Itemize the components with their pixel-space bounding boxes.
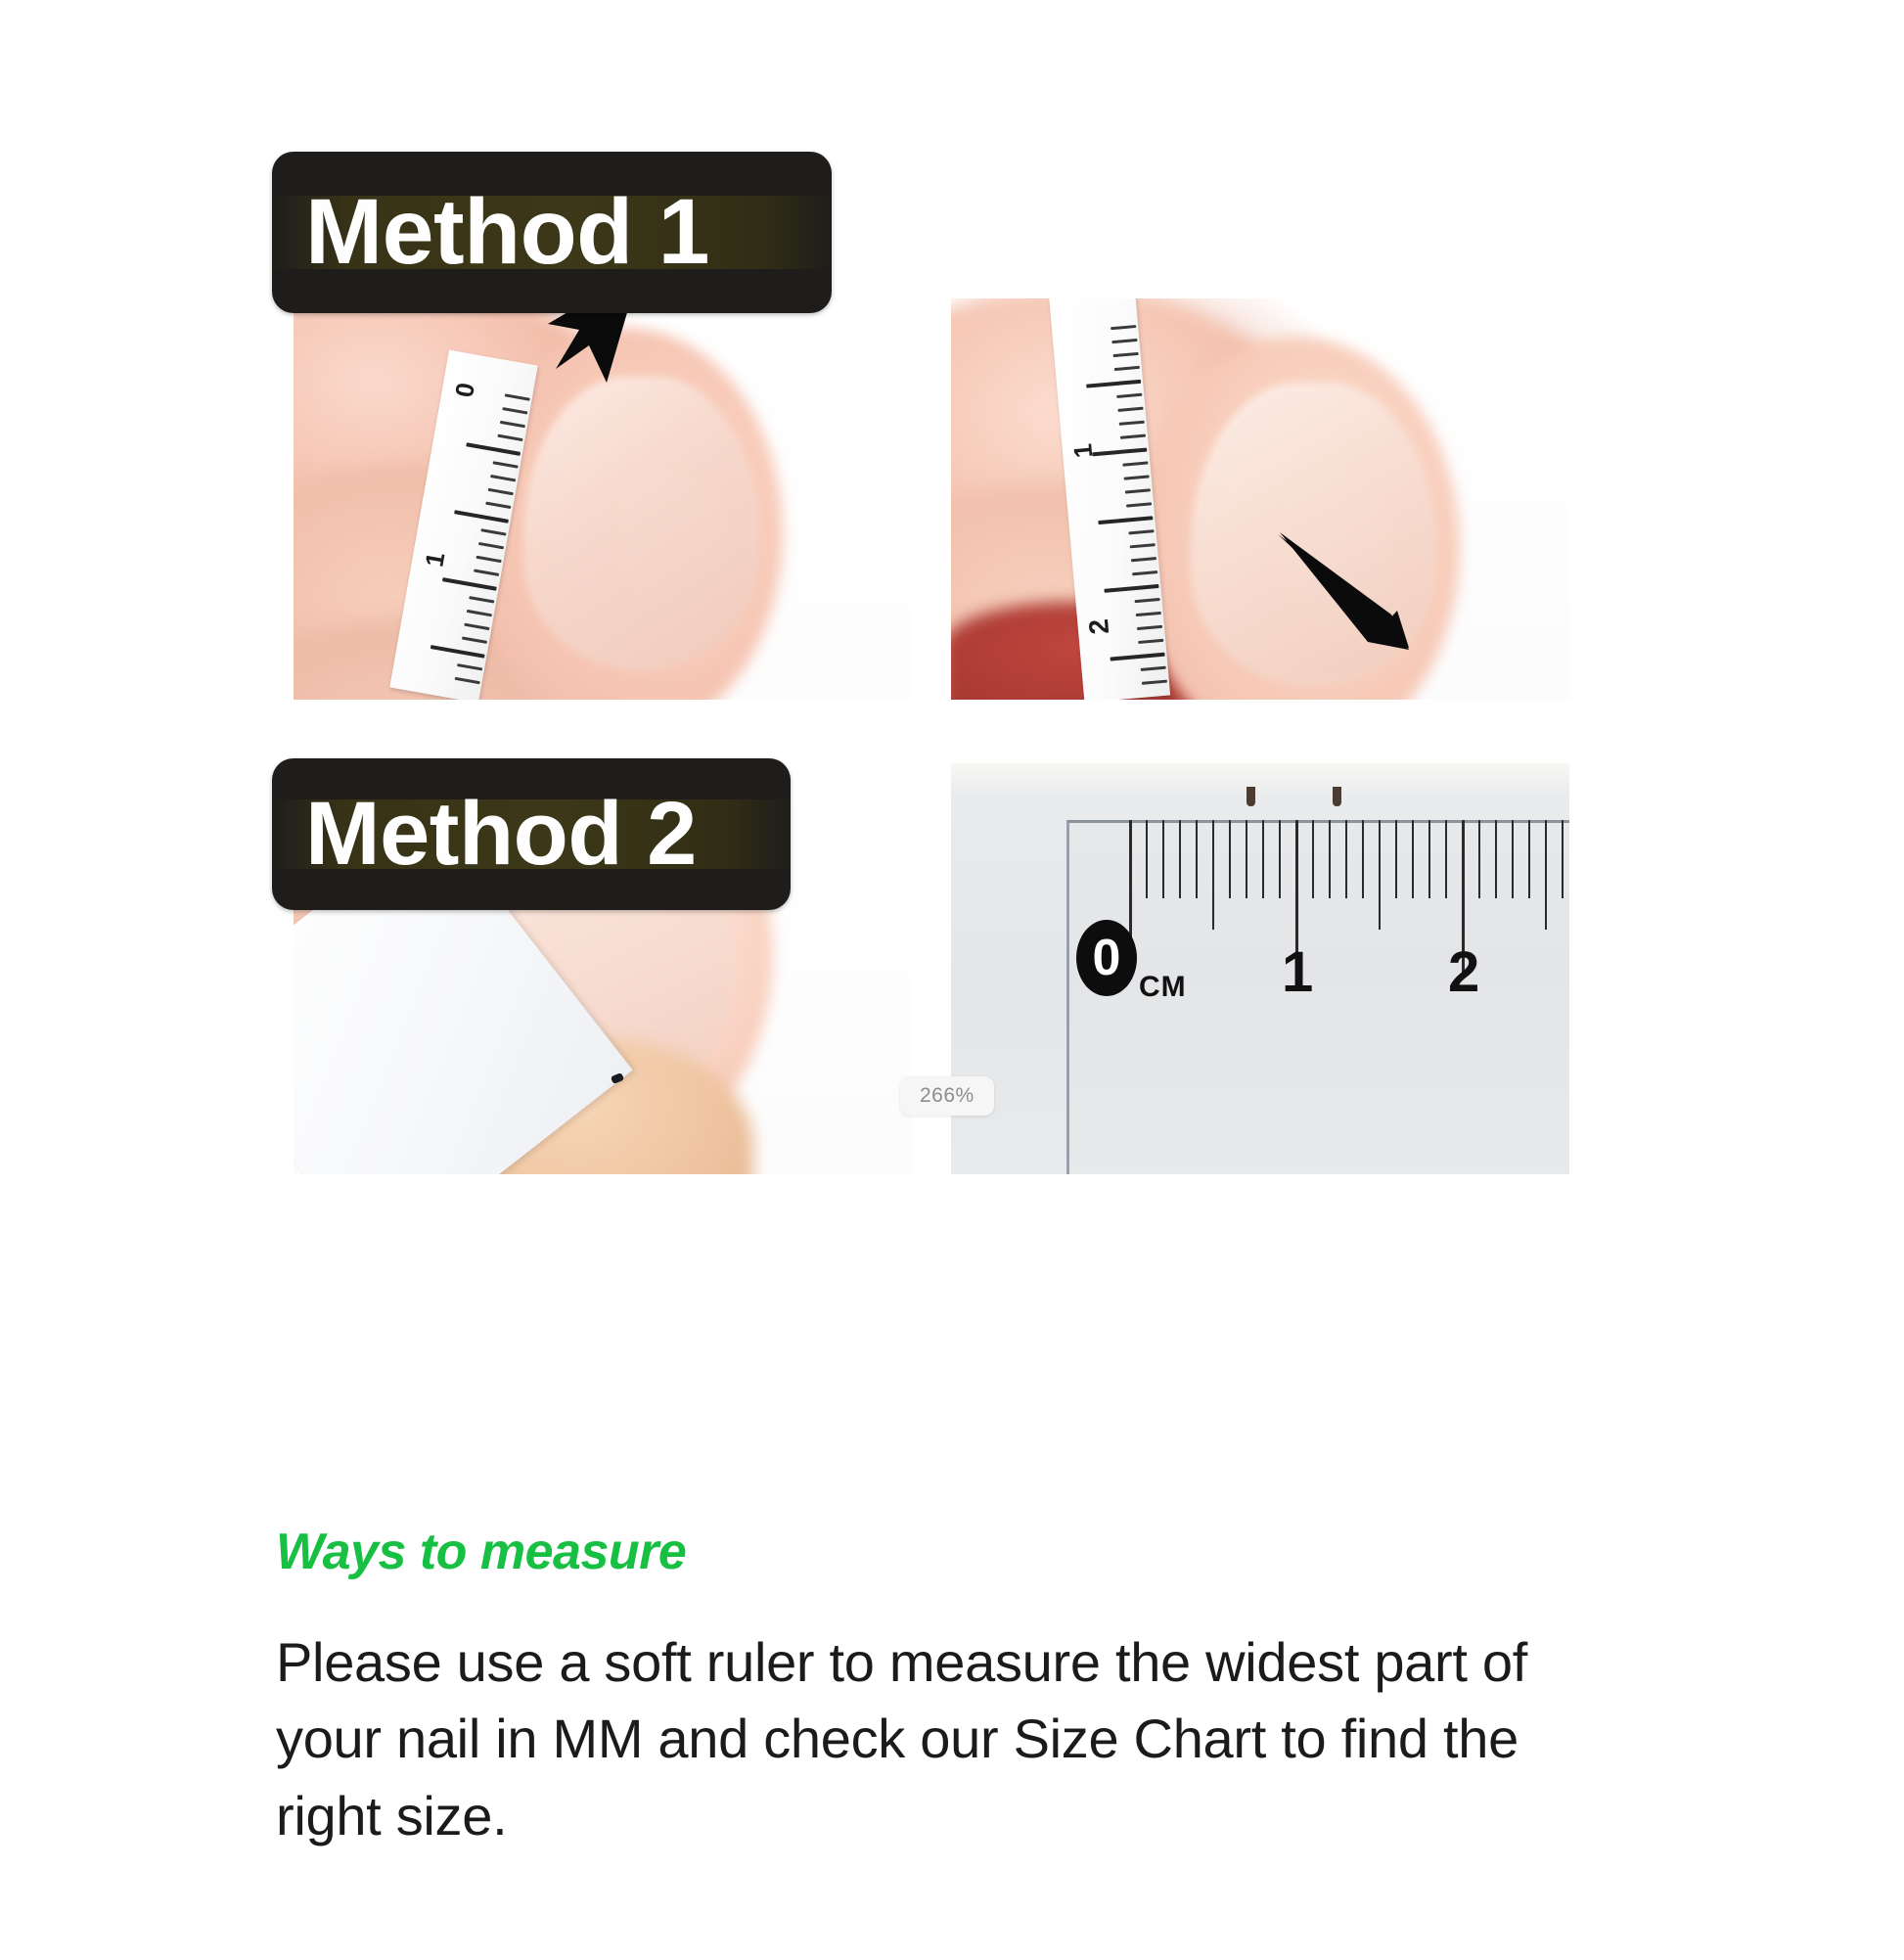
fingernail-shape — [523, 377, 758, 670]
tape-number-2: 2 — [1083, 617, 1115, 635]
measure-instructions: Ways to measure Please use a soft ruler … — [276, 1523, 1646, 1854]
photo-method1-right: 1 2 — [951, 298, 1569, 700]
ruler-unit-label: CM — [1139, 971, 1187, 1004]
method-2-badge: Method 2 — [272, 758, 791, 910]
zoom-level-indicator[interactable]: 266% — [900, 1076, 994, 1116]
photo-grid: 0 1 — [294, 298, 1585, 1174]
ruler-zero-label: 0 — [1093, 933, 1121, 983]
method-1-badge: Method 1 — [272, 152, 832, 313]
photo-method1-left: 0 1 — [294, 298, 912, 700]
method-2-label: Method 2 — [305, 783, 697, 886]
fingernail-shape — [1191, 383, 1435, 686]
ruler-number-1: 1 — [1282, 939, 1313, 1005]
section-heading: Ways to measure — [276, 1523, 1646, 1581]
ruler-nub — [1333, 787, 1341, 806]
size-guide-page: 0 1 — [0, 0, 1904, 1960]
ruler-zero-badge: 0 — [1076, 920, 1137, 996]
photo-method2-right: 0 CM 1 2 3 — [951, 763, 1569, 1174]
ruler-number-2: 2 — [1448, 939, 1479, 1005]
method-1-label: Method 1 — [305, 179, 709, 286]
section-body-text: Please use a soft ruler to measure the w… — [276, 1624, 1607, 1854]
photo-row-method1: 0 1 — [294, 298, 1585, 700]
ruler-nub — [1247, 787, 1255, 806]
tape-number-1: 1 — [1067, 442, 1099, 459]
